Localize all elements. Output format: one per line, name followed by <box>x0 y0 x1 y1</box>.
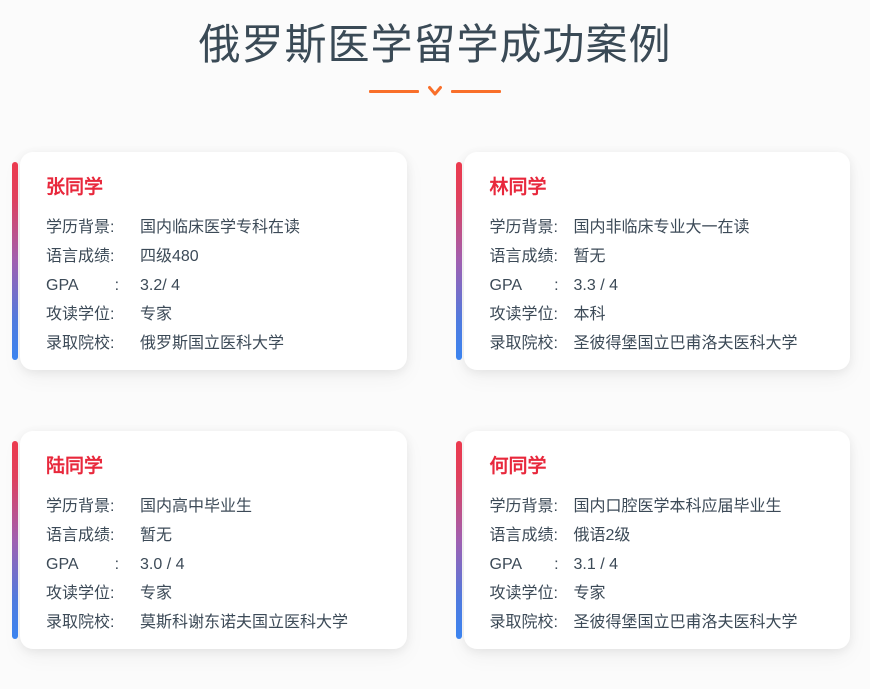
school-value: 圣彼得堡国立巴甫洛夫医科大学 <box>572 329 798 358</box>
education-value: 国内非临床专业大一在读 <box>572 213 750 242</box>
education-label: 学历背景: <box>46 492 132 521</box>
info-row-degree: 攻读学位: 专家 <box>46 300 389 329</box>
page-title: 俄罗斯医学留学成功案例 <box>0 22 870 68</box>
degree-label: 攻读学位: <box>46 579 132 608</box>
school-value: 莫斯科谢东诺夫国立医科大学 <box>132 608 348 637</box>
language-value: 四级480 <box>132 242 199 271</box>
info-row-language: 语言成绩: 暂无 <box>46 521 389 550</box>
gpa-label-text: GPA <box>46 556 79 573</box>
info-row-gpa: GPA: 3.2/ 4 <box>46 271 389 300</box>
degree-value: 本科 <box>572 300 606 329</box>
degree-label: 攻读学位: <box>490 579 572 608</box>
language-label: 语言成绩: <box>46 242 132 271</box>
page-root: 俄罗斯医学留学成功案例 张同学 学历背景: 国内临床医学专科在读 语言成绩: 四… <box>0 0 870 689</box>
info-row-education: 学历背景: 国内高中毕业生 <box>46 492 389 521</box>
education-label: 学历背景: <box>46 213 132 242</box>
degree-label: 攻读学位: <box>490 300 572 329</box>
gpa-value: 3.2/ 4 <box>132 271 180 300</box>
education-value: 国内口腔医学本科应届毕业生 <box>572 492 782 521</box>
education-value: 国内临床医学专科在读 <box>132 213 300 242</box>
info-row-school: 录取院校: 圣彼得堡国立巴甫洛夫医科大学 <box>490 329 833 358</box>
page-header: 俄罗斯医学留学成功案例 <box>0 0 870 100</box>
info-row-language: 语言成绩: 暂无 <box>490 242 833 271</box>
language-label: 语言成绩: <box>490 242 572 271</box>
language-value: 暂无 <box>572 242 606 271</box>
gpa-label-text: GPA <box>490 556 523 573</box>
gpa-label: GPA: <box>46 550 132 579</box>
student-name: 张同学 <box>46 177 389 200</box>
student-name: 何同学 <box>490 456 833 479</box>
gpa-label-text: GPA <box>490 277 523 294</box>
divider-line-left <box>369 90 419 93</box>
education-label: 学历背景: <box>490 213 572 242</box>
language-label: 语言成绩: <box>46 521 132 550</box>
info-row-language: 语言成绩: 四级480 <box>46 242 389 271</box>
case-card[interactable]: 何同学 学历背景: 国内口腔医学本科应届毕业生 语言成绩: 俄语2级 GPA: … <box>464 431 851 649</box>
case-card[interactable]: 林同学 学历背景: 国内非临床专业大一在读 语言成绩: 暂无 GPA: 3.3 … <box>464 152 851 370</box>
chevron-down-icon <box>428 85 442 97</box>
info-row-degree: 攻读学位: 本科 <box>490 300 833 329</box>
school-label: 录取院校: <box>490 608 572 637</box>
gpa-label: GPA: <box>490 271 572 300</box>
gpa-label-text: GPA <box>46 277 79 294</box>
gpa-value: 3.0 / 4 <box>132 550 184 579</box>
education-label: 学历背景: <box>490 492 572 521</box>
gpa-label: GPA: <box>490 550 572 579</box>
school-label: 录取院校: <box>490 329 572 358</box>
info-row-school: 录取院校: 莫斯科谢东诺夫国立医科大学 <box>46 608 389 637</box>
gpa-colon: : <box>79 277 119 294</box>
info-row-language: 语言成绩: 俄语2级 <box>490 521 833 550</box>
language-value: 暂无 <box>132 521 172 550</box>
school-label: 录取院校: <box>46 329 132 358</box>
gpa-label: GPA: <box>46 271 132 300</box>
info-row-gpa: GPA: 3.0 / 4 <box>46 550 389 579</box>
card-accent-bar <box>456 162 462 360</box>
info-row-gpa: GPA: 3.3 / 4 <box>490 271 833 300</box>
card-accent-bar <box>456 441 462 639</box>
gpa-colon: : <box>522 277 558 294</box>
education-value: 国内高中毕业生 <box>132 492 252 521</box>
degree-value: 专家 <box>132 300 172 329</box>
gpa-value: 3.1 / 4 <box>572 550 618 579</box>
degree-label: 攻读学位: <box>46 300 132 329</box>
student-name: 陆同学 <box>46 456 389 479</box>
info-row-school: 录取院校: 圣彼得堡国立巴甫洛夫医科大学 <box>490 608 833 637</box>
school-value: 俄罗斯国立医科大学 <box>132 329 284 358</box>
degree-value: 专家 <box>572 579 606 608</box>
language-value: 俄语2级 <box>572 521 631 550</box>
student-name: 林同学 <box>490 177 833 200</box>
info-row-school: 录取院校: 俄罗斯国立医科大学 <box>46 329 389 358</box>
card-accent-bar <box>12 162 18 360</box>
info-row-gpa: GPA: 3.1 / 4 <box>490 550 833 579</box>
case-card[interactable]: 张同学 学历背景: 国内临床医学专科在读 语言成绩: 四级480 GPA: 3.… <box>20 152 407 370</box>
info-row-education: 学历背景: 国内临床医学专科在读 <box>46 213 389 242</box>
info-row-degree: 攻读学位: 专家 <box>490 579 833 608</box>
gpa-colon: : <box>522 556 558 573</box>
info-row-education: 学历背景: 国内口腔医学本科应届毕业生 <box>490 492 833 521</box>
language-label: 语言成绩: <box>490 521 572 550</box>
info-row-degree: 攻读学位: 专家 <box>46 579 389 608</box>
info-row-education: 学历背景: 国内非临床专业大一在读 <box>490 213 833 242</box>
degree-value: 专家 <box>132 579 172 608</box>
case-card[interactable]: 陆同学 学历背景: 国内高中毕业生 语言成绩: 暂无 GPA: 3.0 / 4 … <box>20 431 407 649</box>
gpa-colon: : <box>79 556 119 573</box>
school-label: 录取院校: <box>46 608 132 637</box>
case-card-grid: 张同学 学历背景: 国内临床医学专科在读 语言成绩: 四级480 GPA: 3.… <box>0 152 870 649</box>
school-value: 圣彼得堡国立巴甫洛夫医科大学 <box>572 608 798 637</box>
divider-line-right <box>451 90 501 93</box>
gpa-value: 3.3 / 4 <box>572 271 618 300</box>
title-divider <box>0 82 870 100</box>
card-accent-bar <box>12 441 18 639</box>
